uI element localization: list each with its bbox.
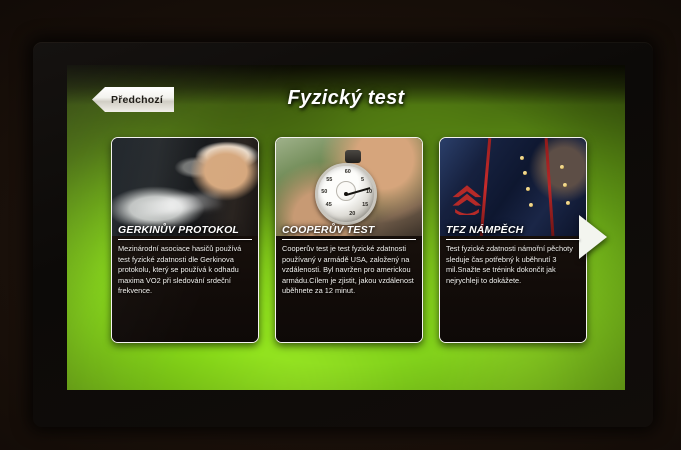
card-photo-firefighter xyxy=(112,138,258,236)
stopwatch-tick-55: 55 xyxy=(326,177,332,183)
page-title: Fyzický test xyxy=(67,87,625,110)
stopwatch-tick-60: 60 xyxy=(345,169,351,175)
uniform-button-icon xyxy=(520,156,524,160)
rank-chevron-icon xyxy=(450,181,484,215)
test-card-list: GERKINŮV PROTOKOL Mezinárodní asociace h… xyxy=(111,137,587,343)
card-title-rule xyxy=(446,239,580,240)
uniform-red-piping-secondary xyxy=(545,138,555,236)
stopwatch-tick-45: 45 xyxy=(326,202,332,208)
stopwatch-tick-20: 20 xyxy=(349,211,355,217)
card-title-rule xyxy=(118,239,252,240)
uniform-button-icon xyxy=(560,165,564,169)
card-title-rule xyxy=(282,239,416,240)
hand-holding-stopwatch-icon: 60 5 10 15 20 45 50 55 xyxy=(276,138,422,236)
firefighter-with-hose-icon xyxy=(112,138,258,236)
uniform-button-icon xyxy=(563,183,567,187)
uniform-button-icon xyxy=(566,201,570,205)
stopwatch-tick-5: 5 xyxy=(361,177,364,183)
next-arrow-button[interactable] xyxy=(579,215,607,259)
test-card-tfz[interactable]: TFZ NÁMPĚCH Test fyzické zdatnosti námoř… xyxy=(439,137,587,343)
stopwatch-crown-icon xyxy=(345,150,361,163)
uniform-button-icon xyxy=(526,187,530,191)
stopwatch-tick-15: 15 xyxy=(362,202,368,208)
card-body: Test fyzické zdatnosti námořní pěchoty s… xyxy=(446,244,580,286)
photographed-device: Předchozí Fyzický test GERKINŮV PROTOKOL… xyxy=(0,0,681,450)
uniform-button-icon xyxy=(529,203,533,207)
card-title: TFZ NÁMPĚCH xyxy=(446,224,580,236)
stopwatch-dial-icon: 60 5 10 15 20 45 50 55 xyxy=(315,163,377,225)
uniform-button-icon xyxy=(523,171,527,175)
app-screen: Předchozí Fyzický test GERKINŮV PROTOKOL… xyxy=(67,65,625,390)
stopwatch-tick-10: 10 xyxy=(366,189,372,195)
card-body: Mezinárodní asociace hasičů používá test… xyxy=(118,244,252,297)
card-title: GERKINŮV PROTOKOL xyxy=(118,224,252,236)
marine-dress-uniform-icon xyxy=(440,138,586,236)
stopwatch-pin-icon xyxy=(344,192,348,196)
stopwatch-tick-50: 50 xyxy=(321,189,327,195)
test-card-gerkin[interactable]: GERKINŮV PROTOKOL Mezinárodní asociace h… xyxy=(111,137,259,343)
card-photo-uniform xyxy=(440,138,586,236)
test-card-cooper[interactable]: 60 5 10 15 20 45 50 55 xyxy=(275,137,423,343)
card-photo-stopwatch: 60 5 10 15 20 45 50 55 xyxy=(276,138,422,236)
card-body: Cooperův test je test fyzické zdatnosti … xyxy=(282,244,416,297)
card-title: COOPERŮV TEST xyxy=(282,224,416,236)
